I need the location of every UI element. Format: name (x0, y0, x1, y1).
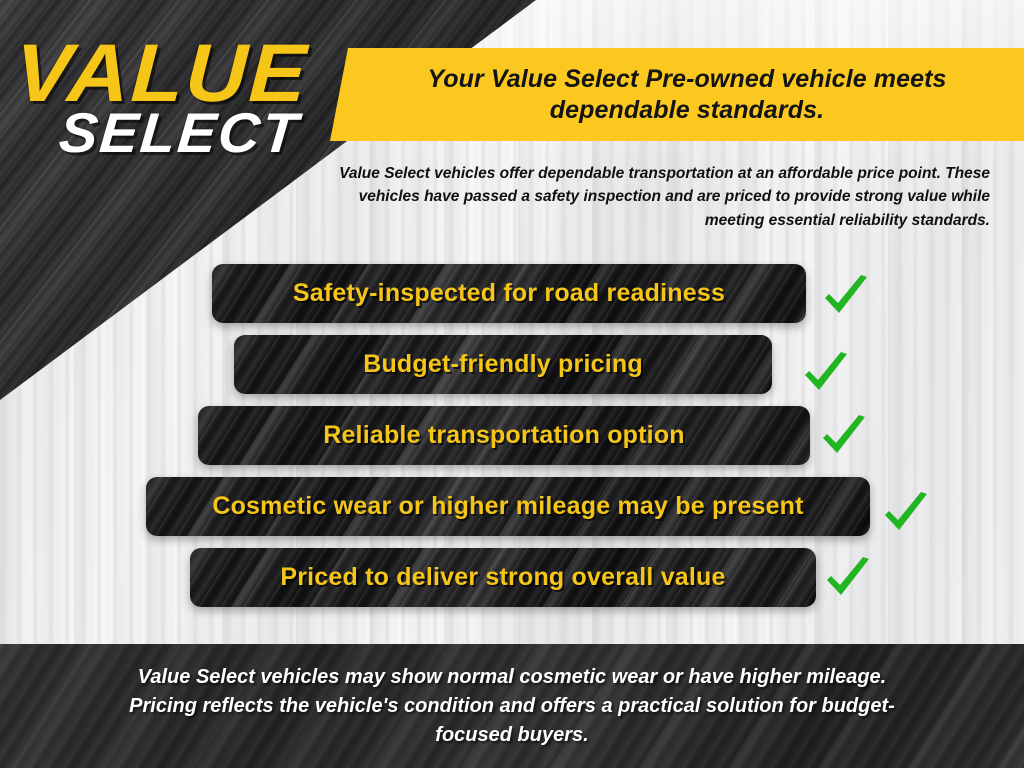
list-item: Budget-friendly pricing (0, 329, 1024, 400)
check-icon (800, 351, 852, 395)
value-select-promo-graphic: VALUE SELECT Your Value Select Pre-owned… (0, 0, 1024, 768)
list-item: Priced to deliver strong overall value (0, 542, 1024, 613)
intro-paragraph: Value Select vehicles offer dependable t… (330, 162, 990, 233)
headline-banner: Your Value Select Pre-owned vehicle meet… (330, 48, 1024, 141)
check-icon (880, 491, 932, 535)
check-icon (822, 556, 874, 600)
feature-pill: Cosmetic wear or higher mileage may be p… (146, 477, 870, 536)
feature-label: Budget-friendly pricing (363, 350, 643, 379)
feature-pill: Safety-inspected for road readiness (212, 264, 806, 323)
feature-pill: Budget-friendly pricing (234, 335, 772, 394)
feature-list: Safety-inspected for road readiness Budg… (0, 258, 1024, 613)
feature-label: Safety-inspected for road readiness (293, 279, 725, 308)
feature-label: Reliable transportation option (323, 421, 685, 450)
footer-disclaimer-bar: Value Select vehicles may show normal co… (0, 644, 1024, 768)
feature-label: Priced to deliver strong overall value (280, 563, 725, 592)
check-icon (820, 274, 872, 318)
list-item: Reliable transportation option (0, 400, 1024, 471)
list-item: Cosmetic wear or higher mileage may be p… (0, 471, 1024, 542)
check-icon (818, 414, 870, 458)
feature-label: Cosmetic wear or higher mileage may be p… (212, 492, 803, 521)
feature-pill: Priced to deliver strong overall value (190, 548, 816, 607)
headline-text: Your Value Select Pre-owned vehicle meet… (387, 64, 987, 125)
footer-disclaimer-text: Value Select vehicles may show normal co… (102, 663, 922, 750)
feature-pill: Reliable transportation option (198, 406, 810, 465)
brand-logo: VALUE SELECT (0, 36, 370, 161)
list-item: Safety-inspected for road readiness (0, 258, 1024, 329)
brand-logo-select: SELECT (57, 105, 377, 161)
